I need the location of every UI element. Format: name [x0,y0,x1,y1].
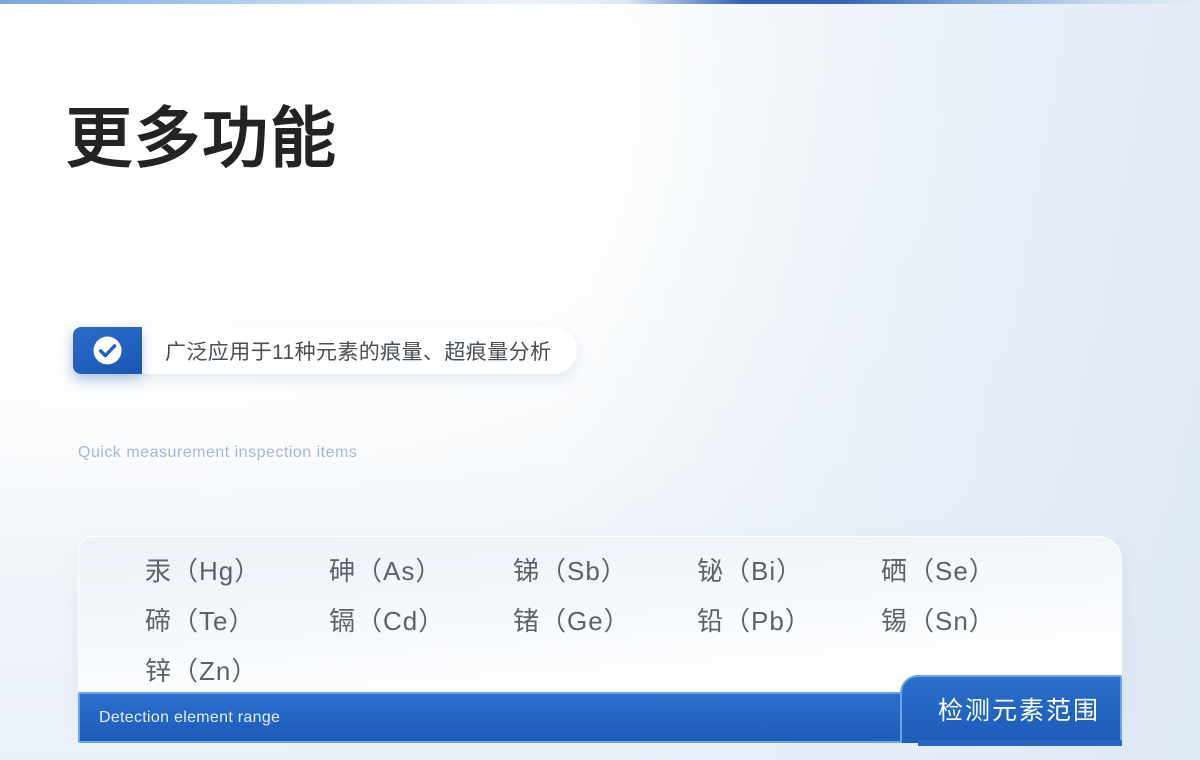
element-item: 硒（Se） [881,551,1065,588]
tagline-row: 广泛应用于11种元素的痕量、超痕量分析 [73,327,1200,374]
element-item: 碲（Te） [145,601,329,638]
check-circle-icon [73,327,142,374]
tagline-pill: 广泛应用于11种元素的痕量、超痕量分析 [73,327,577,374]
subcaption: Quick measurement inspection items [78,444,1200,462]
card-footer-tab[interactable]: 检测元素范围 [900,675,1122,743]
page-title: 更多功能 [66,100,1200,176]
element-item: 铋（Bi） [697,551,881,588]
element-item: 锑（Sb） [513,551,697,588]
tagline-text: 广泛应用于11种元素的痕量、超痕量分析 [142,336,551,366]
element-item: 砷（As） [329,551,513,588]
element-item: 镉（Cd） [329,601,513,638]
element-grid: 汞（Hg） 砷（As） 锑（Sb） 铋（Bi） 硒（Se） 碲（Te） 镉（Cd… [145,551,1065,688]
page-root: 更多功能 广泛应用于11种元素的痕量、超痕量分析 Quick measureme… [0,0,1200,760]
element-item: 锡（Sn） [881,601,1065,638]
top-accent-strip [0,0,1200,4]
card-detection-element-range: 汞（Hg） 砷（As） 锑（Sb） 铋（Bi） 硒（Se） 碲（Te） 镉（Cd… [78,536,1122,743]
card-footer-label-cn: 检测元素范围 [938,691,1100,729]
element-item: 锗（Ge） [513,601,697,638]
card-footer-label-en: Detection element range [80,709,280,727]
element-item: 汞（Hg） [145,551,329,588]
element-item: 锌（Zn） [145,651,329,688]
element-item: 铅（Pb） [697,601,881,638]
